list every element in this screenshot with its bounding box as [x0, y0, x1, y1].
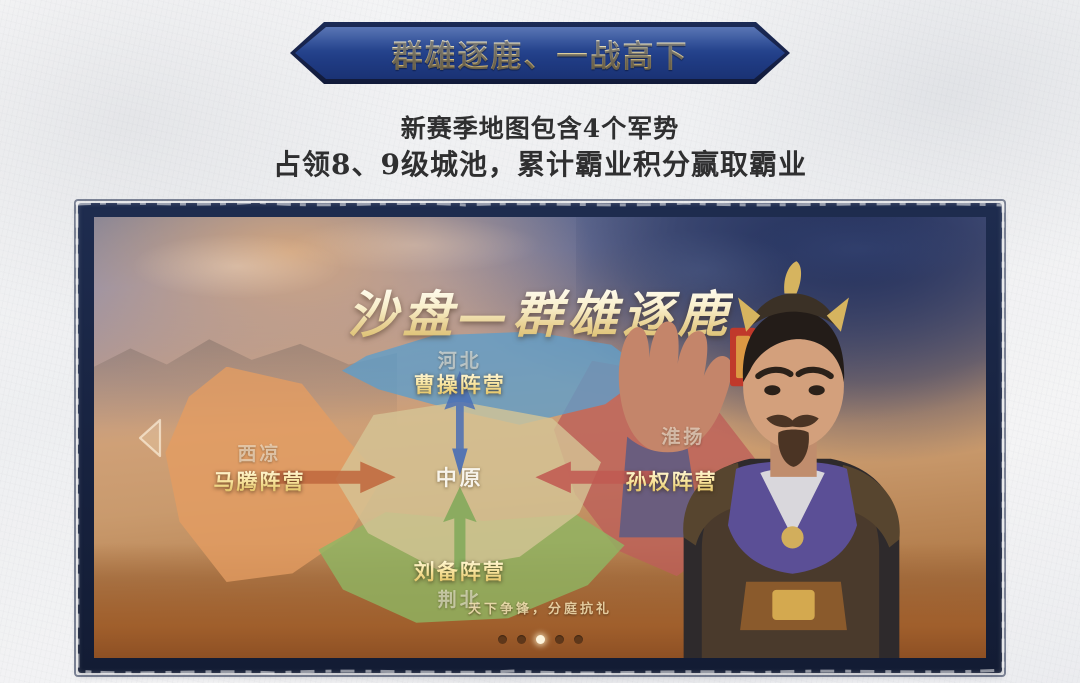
camp-label-west: 马腾阵营	[214, 466, 306, 496]
artwork-caption: 天下争锋，分庭抗礼	[94, 598, 986, 618]
carousel-slide: 沙盘—群雄逐鹿 中原	[94, 217, 986, 658]
banner-inner-shape: 群雄逐鹿、一战高下	[295, 27, 785, 79]
artwork-title: 沙盘—群雄逐鹿	[94, 275, 986, 347]
region-label-east: 淮扬	[661, 422, 705, 449]
carousel-dot-2[interactable]	[517, 635, 526, 644]
carousel-dot-3[interactable]	[536, 635, 545, 644]
region-label-west: 西凉	[238, 439, 282, 466]
carousel-dot-1[interactable]	[498, 635, 507, 644]
header-banner: 群雄逐鹿、一战高下	[0, 22, 1080, 84]
artwork-title-text: 沙盘—群雄逐鹿	[348, 285, 733, 344]
artwork-caption-text: 天下争锋，分庭抗礼	[468, 602, 612, 617]
camp-label-south: 刘备阵营	[414, 556, 506, 586]
carousel-dot-5[interactable]	[574, 635, 583, 644]
subtitle-line-1: 新赛季地图包含4个军势	[0, 112, 1080, 145]
carousel-frame: 沙盘—群雄逐鹿 中原	[78, 203, 1002, 673]
carousel-dots[interactable]	[94, 635, 986, 644]
strategy-map: 中原 河北 曹操阵营 西凉 马腾阵营 淮扬 孙权阵营 刘备阵营 荆北	[165, 332, 754, 623]
subtitle-line-2: 占领8、9级城池，累计霸业积分赢取霸业	[0, 147, 1080, 184]
subtitle-block: 新赛季地图包含4个军势 占领8、9级城池，累计霸业积分赢取霸业	[0, 112, 1080, 184]
carousel-dot-4[interactable]	[555, 635, 564, 644]
banner-title-text: 群雄逐鹿、一战高下	[392, 31, 689, 76]
chevron-left-icon[interactable]	[136, 416, 166, 460]
map-center-label: 中原	[436, 462, 484, 492]
camp-label-north: 曹操阵营	[414, 369, 506, 399]
camp-label-east: 孙权阵营	[626, 466, 718, 496]
banner-outer-shape: 群雄逐鹿、一战高下	[290, 22, 790, 84]
